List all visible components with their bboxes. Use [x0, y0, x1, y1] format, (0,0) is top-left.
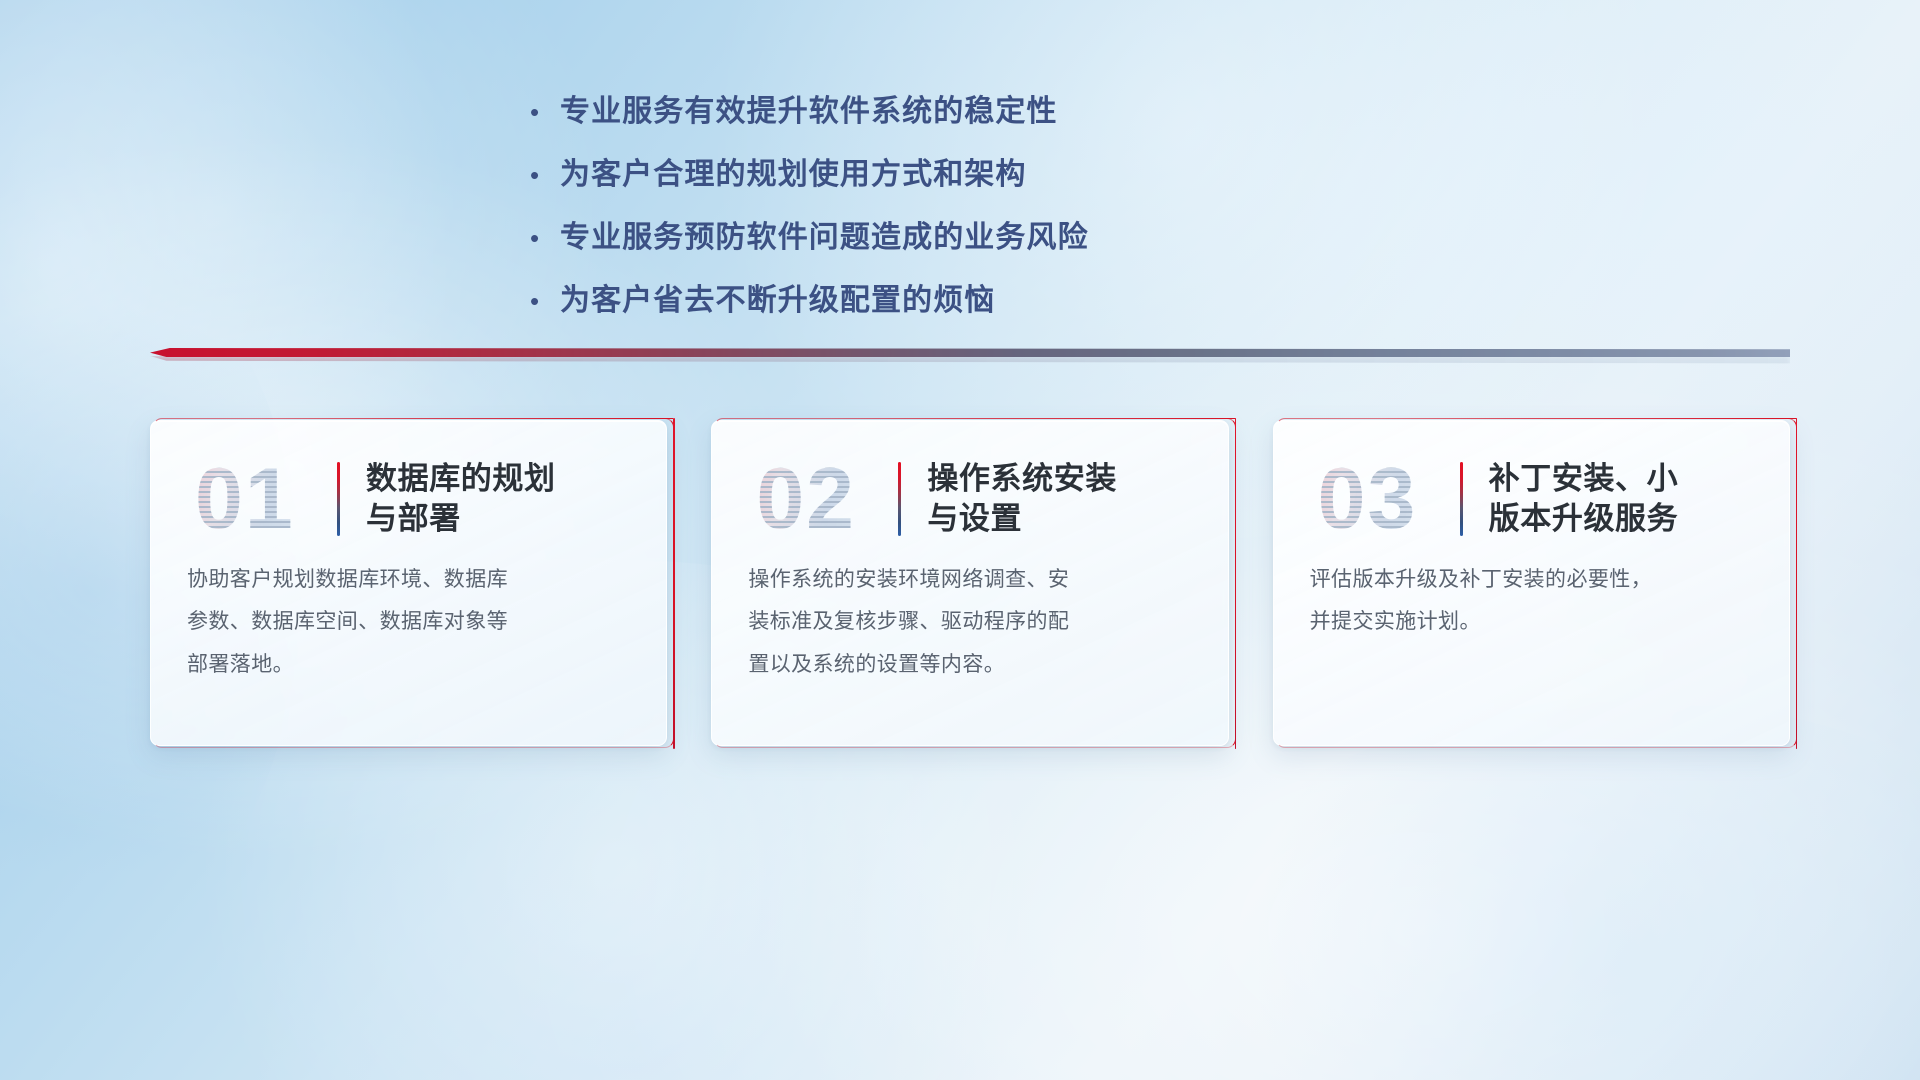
card-header: 03 补丁安装、小 版本升级服务	[1274, 421, 1789, 553]
bullet-text: 专业服务预防软件问题造成的业务风险	[560, 212, 1089, 256]
card-divider-bar	[337, 462, 340, 536]
card-header: 02 操作系统安装 与设置	[712, 421, 1227, 553]
divider-line	[150, 348, 1790, 357]
card-description: 评估版本升级及补丁安装的必要性， 并提交实施计划。	[1274, 559, 1789, 644]
card-divider-bar	[898, 462, 901, 536]
bullet-text: 为客户省去不断升级配置的烦恼	[560, 275, 995, 319]
list-item: • 专业服务预防软件问题造成的业务风险	[530, 212, 1330, 275]
bullet-point-icon: •	[530, 162, 560, 188]
card-number: 01	[185, 456, 337, 542]
divider-shadow	[150, 356, 1790, 372]
list-item: • 为客户合理的规划使用方式和架构	[530, 149, 1330, 212]
service-card[interactable]: 02 操作系统安装 与设置 操作系统的安装环境网络调查、安 装标准及复核步骤、驱…	[711, 420, 1228, 746]
list-item: • 专业服务有效提升软件系统的稳定性	[530, 86, 1330, 149]
bullet-point-icon: •	[530, 288, 560, 314]
service-card-group: 01 数据库的规划 与部署 协助客户规划数据库环境、数据库 参数、数据库空间、数…	[150, 420, 1790, 746]
card-number: 03	[1308, 456, 1460, 542]
card-description: 协助客户规划数据库环境、数据库 参数、数据库空间、数据库对象等 部署落地。	[151, 559, 666, 686]
card-description: 操作系统的安装环境网络调查、安 装标准及复核步骤、驱动程序的配 置以及系统的设置…	[712, 559, 1227, 686]
list-item: • 为客户省去不断升级配置的烦恼	[530, 275, 1330, 338]
service-card[interactable]: 01 数据库的规划 与部署 协助客户规划数据库环境、数据库 参数、数据库空间、数…	[150, 420, 667, 746]
bullet-point-icon: •	[530, 225, 560, 251]
card-number: 02	[746, 456, 898, 542]
card-title: 补丁安装、小 版本升级服务	[1489, 459, 1679, 540]
bullet-point-icon: •	[530, 99, 560, 125]
background-glow-bottom-right	[1180, 700, 1920, 1080]
card-title: 数据库的规划 与部署	[366, 459, 556, 540]
bullet-text: 专业服务有效提升软件系统的稳定性	[560, 86, 1058, 130]
section-divider	[150, 344, 1790, 370]
benefits-bullet-list: • 专业服务有效提升软件系统的稳定性 • 为客户合理的规划使用方式和架构 • 专…	[530, 86, 1330, 338]
card-divider-bar	[1460, 462, 1463, 536]
service-card[interactable]: 03 补丁安装、小 版本升级服务 评估版本升级及补丁安装的必要性， 并提交实施计…	[1273, 420, 1790, 746]
card-header: 01 数据库的规划 与部署	[151, 421, 666, 553]
slide-root: • 专业服务有效提升软件系统的稳定性 • 为客户合理的规划使用方式和架构 • 专…	[0, 0, 1920, 1080]
card-title: 操作系统安装 与设置	[927, 459, 1117, 540]
bullet-text: 为客户合理的规划使用方式和架构	[560, 149, 1027, 193]
